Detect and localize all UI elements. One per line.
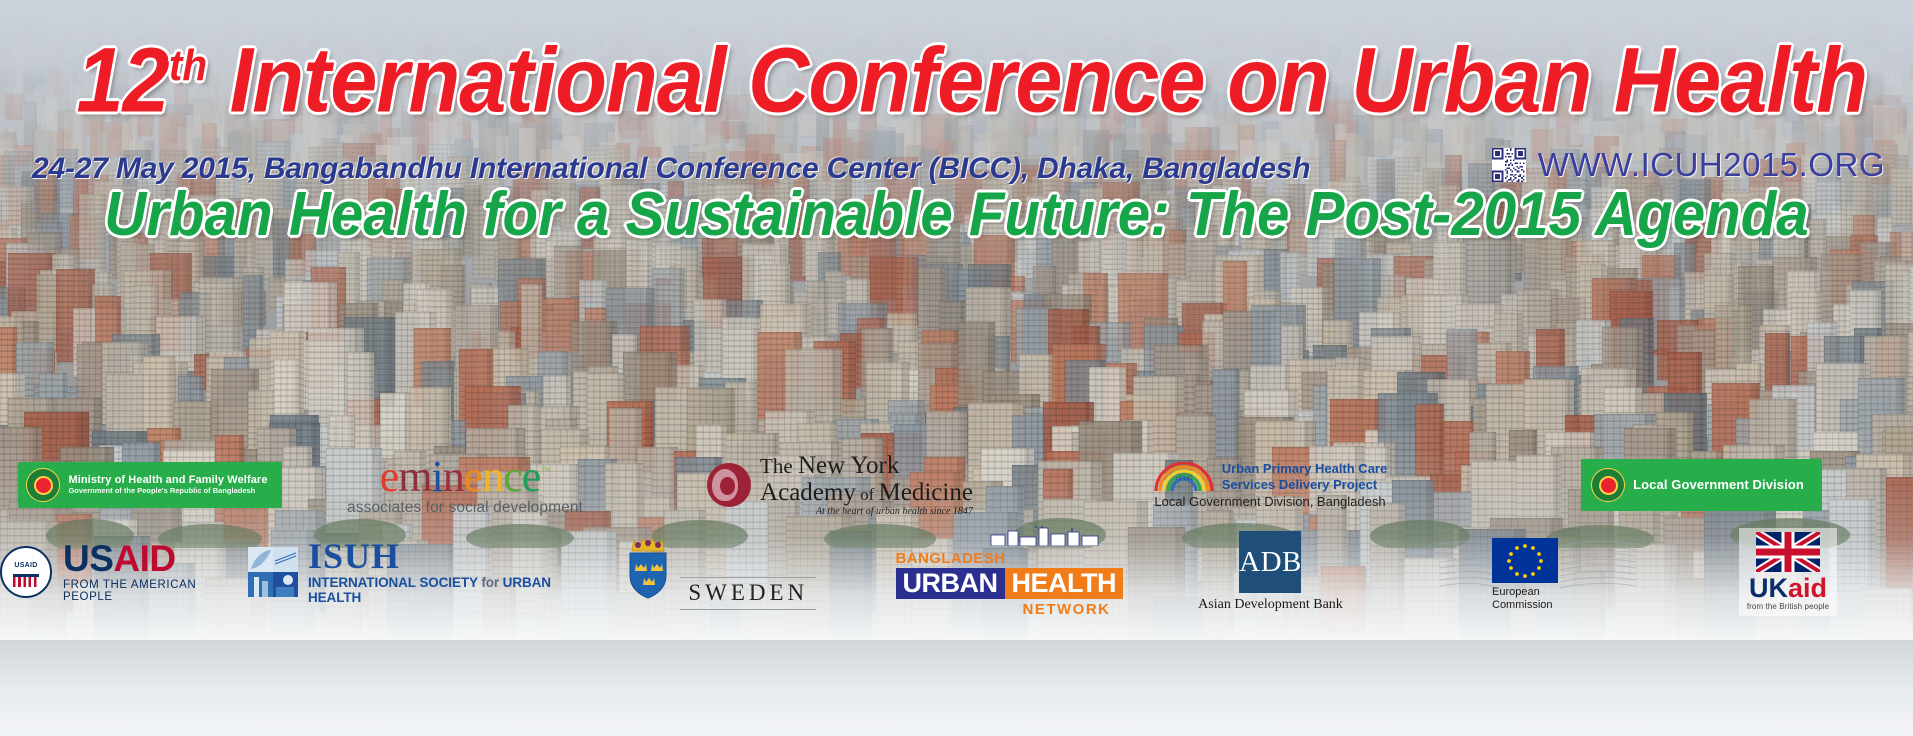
uphc-subtitle: Local Government Division, Bangladesh [1153, 494, 1387, 509]
buhn-line1: BANGLADESH [896, 551, 1111, 566]
conference-banner: 12th International Conference on Urban H… [0, 0, 1913, 736]
eminence-tagline: associates for social development [347, 500, 583, 516]
nyam-tagline: At the heart of urban health since 1847 [760, 507, 973, 518]
nyam-of: of [856, 485, 879, 504]
isuh-for: for [478, 575, 503, 590]
logo-isuh: ISUH INTERNATIONAL SOCIETY for URBAN HEA… [248, 539, 578, 604]
nyam-academy: Academy [760, 479, 856, 506]
page-title: 12th International Conference on Urban H… [77, 0, 1837, 129]
bangladesh-govt-seal-icon-2 [1591, 468, 1625, 502]
headline-ordinal: th [169, 41, 207, 90]
nyam-medicine: Medicine [879, 479, 973, 506]
ukaid-aid: aid [1788, 573, 1827, 603]
logo-local-government-division: Local Government Division [1490, 459, 1913, 511]
ec-caption-line1: European [1492, 586, 1553, 599]
logo-urban-primary-health-care: UPHC Urban Primary Health Care Services … [1050, 461, 1490, 509]
adb-caption: Asian Development Bank [1198, 597, 1343, 613]
website-block[interactable]: WWW.ICUH2015.ORG [1492, 146, 1885, 184]
union-jack-icon [1756, 532, 1820, 572]
usaid-seal-text: USAID [14, 562, 37, 569]
logo-sweden: SWEDEN [578, 534, 858, 610]
ec-caption-line2: Commission [1492, 599, 1553, 612]
conference-theme: Urban Health for a Sustainable Future: T… [57, 182, 1855, 248]
bangladesh-govt-seal-icon [26, 468, 60, 502]
sponsor-row-1: Ministry of Health and Family Welfare Go… [0, 450, 1913, 520]
uphc-title-line1: Urban Primary Health Care [1222, 461, 1387, 476]
svg-text:UPHC: UPHC [1175, 476, 1193, 482]
uphc-title-line2: Services Delivery Project [1222, 477, 1387, 492]
nyam-the: The [760, 454, 798, 478]
usaid-aid: AID [113, 538, 175, 579]
buhn-line3: NETWORK [896, 601, 1111, 618]
logo-bangladesh-urban-health-network: BANGLADESH URBAN HEALTH NETWORK [858, 526, 1148, 618]
logo-ministry-of-health: Ministry of Health and Family Welfare Go… [0, 462, 300, 508]
sweden-label: SWEDEN [680, 577, 816, 610]
logo-eminence: eminence™ associates for social developm… [300, 455, 630, 516]
logo-european-commission: European Commission [1393, 532, 1683, 612]
usaid-tagline: FROM THE AMERICAN PEOPLE [63, 579, 248, 603]
usaid-seal-icon: USAID [0, 546, 52, 598]
logo-new-york-academy-of-medicine: The New York Academy of Medicine At the … [630, 452, 1050, 518]
rainbow-icon: UPHC [1153, 462, 1215, 492]
nyam-newyork: New York [798, 452, 899, 479]
ukaid-caption: from the British people [1747, 602, 1829, 611]
trademark-icon: ™ [540, 467, 550, 478]
city-skyline-icon [896, 526, 1111, 546]
adb-acronym: ADB [1239, 531, 1301, 593]
sponsor-row-2: USAID USAID FROM THE AMERICAN PEOPLE [0, 526, 1913, 618]
usaid-us: US [63, 538, 113, 579]
isuh-acronym: ISUH [308, 539, 578, 573]
eu-flag-icon [1492, 538, 1558, 583]
logo-usaid: USAID USAID FROM THE AMERICAN PEOPLE [0, 541, 248, 603]
headline-number: 12 [77, 30, 169, 132]
nyam-seal-icon [707, 463, 751, 507]
buhn-urban: URBAN [896, 568, 1005, 599]
sponsor-logo-strip: Ministry of Health and Family Welfare Go… [0, 478, 1913, 736]
ministry-subtitle: Government of the People's Republic of B… [68, 487, 267, 496]
qr-code-icon [1492, 148, 1526, 182]
headline-block: 12th International Conference on Urban H… [0, 0, 1913, 129]
buhn-health: HEALTH [1005, 568, 1124, 599]
ukaid-uk: UK [1749, 573, 1788, 603]
website-url[interactable]: WWW.ICUH2015.ORG [1538, 146, 1885, 184]
eminence-wordmark: eminence™ [347, 455, 583, 499]
logo-asian-development-bank: ADB Asian Development Bank [1148, 531, 1393, 613]
lgd-title: Local Government Division [1633, 478, 1804, 493]
logo-ukaid: UKaid from the British people [1683, 528, 1893, 616]
isuh-mark-icon [248, 547, 298, 597]
sweden-coat-of-arms-icon [620, 534, 676, 600]
headline-rest: International Conference on Urban Health [207, 30, 1867, 132]
isuh-exp1: INTERNATIONAL SOCIETY [308, 575, 478, 590]
